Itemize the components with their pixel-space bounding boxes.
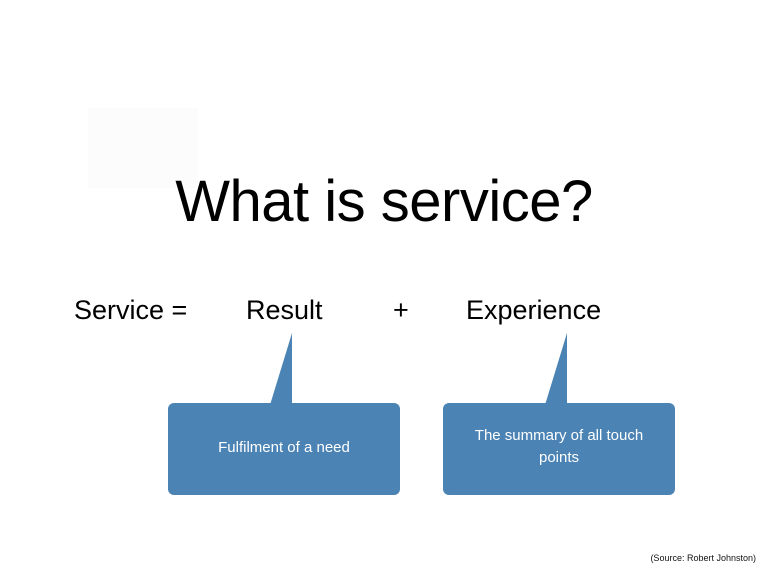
equation-operator-plus: + [393,293,409,327]
equation-left-label: Service = [74,293,187,327]
callout-label-result: Fulfilment of a need [168,437,400,459]
equation-term-experience: Experience [466,293,601,327]
callout-label-experience: The summary of all touch points [443,425,675,469]
service-equation: Service = Result + Experience [0,293,768,333]
page-title: What is service? [0,170,768,234]
callout-box-experience: The summary of all touch points [443,403,675,495]
equation-term-result: Result [246,293,323,327]
callout-pointer-experience [545,333,567,405]
slide-canvas: What is service? Service = Result + Expe… [0,0,768,576]
callout-pointer-result [270,333,292,405]
source-attribution: (Source: Robert Johnston) [650,552,756,564]
callout-box-result: Fulfilment of a need [168,403,400,495]
